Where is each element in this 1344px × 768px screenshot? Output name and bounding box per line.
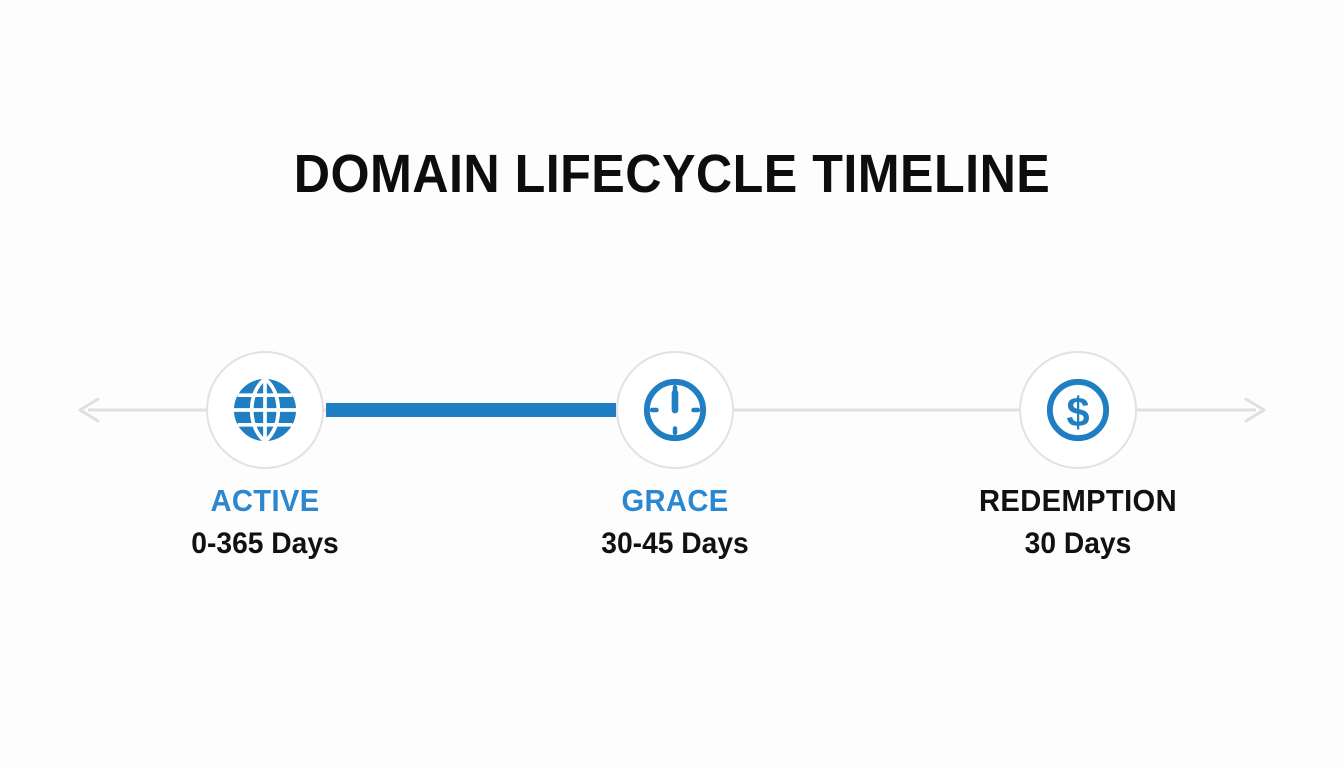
svg-text:$: $ [1066,388,1089,435]
phase-label-grace: GRACE [601,483,748,520]
timeline-caption-grace: GRACE 30-45 Days [597,483,754,562]
duration-label-grace: 30-45 Days [601,525,748,563]
dollar-icon: $ [1041,373,1115,447]
duration-label-active: 0-365 Days [191,525,338,563]
timeline-caption-redemption: REDEMPTION 30 Days [973,483,1184,562]
timeline-node-active[interactable] [206,351,324,469]
timeline: ACTIVE 0-365 Days GRACE 30-45 Days [0,0,1344,768]
clock-icon [638,373,712,447]
timeline-node-redemption[interactable]: $ [1019,351,1137,469]
domain-lifecycle-infographic: DOMAIN LIFECYCLE TIMELINE [0,0,1344,768]
timeline-caption-active: ACTIVE 0-365 Days [187,483,344,562]
phase-label-active: ACTIVE [191,483,338,520]
timeline-node-grace[interactable] [616,351,734,469]
phase-label-redemption: REDEMPTION [979,483,1177,520]
duration-label-redemption: 30 Days [979,525,1177,563]
globe-icon [228,373,302,447]
